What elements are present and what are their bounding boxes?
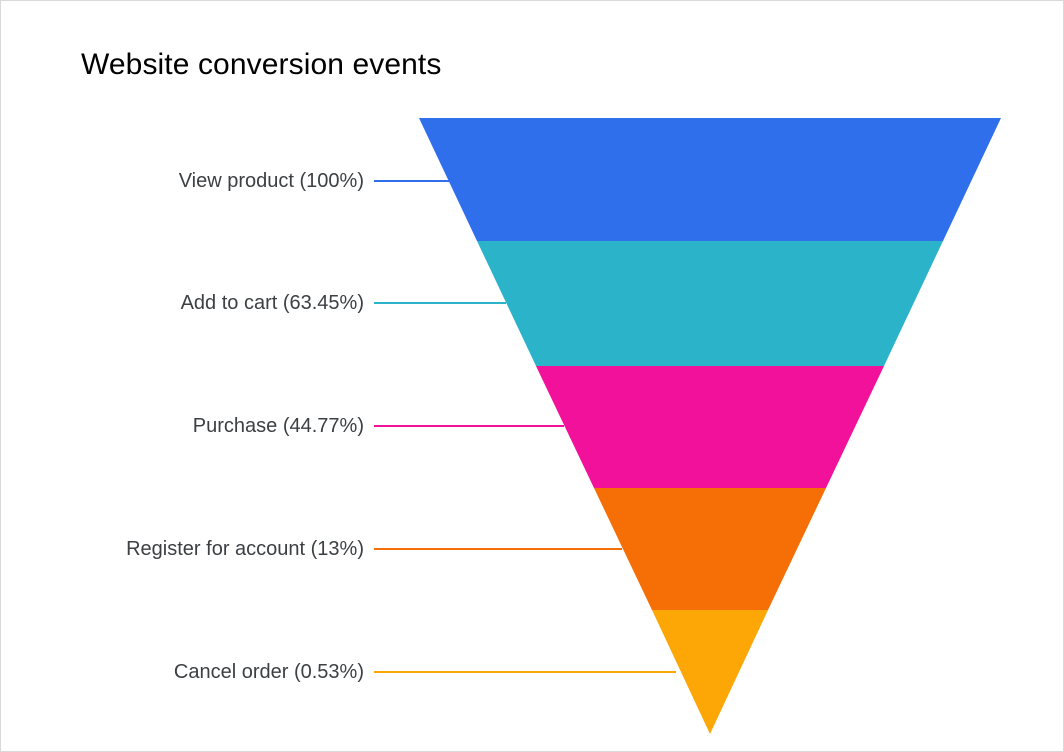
- funnel-segment-view-product[interactable]: [419, 118, 1001, 241]
- funnel-label-view-product: View product (100%): [179, 169, 364, 193]
- funnel-label-purchase: Purchase (44.77%): [193, 414, 364, 438]
- funnel-label-add-to-cart: Add to cart (63.45%): [181, 291, 364, 315]
- chart-canvas: Website conversion events View product (…: [0, 0, 1064, 752]
- funnel-chart: [1, 1, 1064, 752]
- funnel-label-cancel-order: Cancel order (0.53%): [174, 660, 364, 684]
- funnel-segment-purchase[interactable]: [536, 366, 884, 488]
- funnel-segment-add-to-cart[interactable]: [477, 241, 943, 366]
- funnel-label-register-for-account: Register for account (13%): [126, 537, 364, 561]
- funnel-segment-register-for-account[interactable]: [594, 488, 826, 610]
